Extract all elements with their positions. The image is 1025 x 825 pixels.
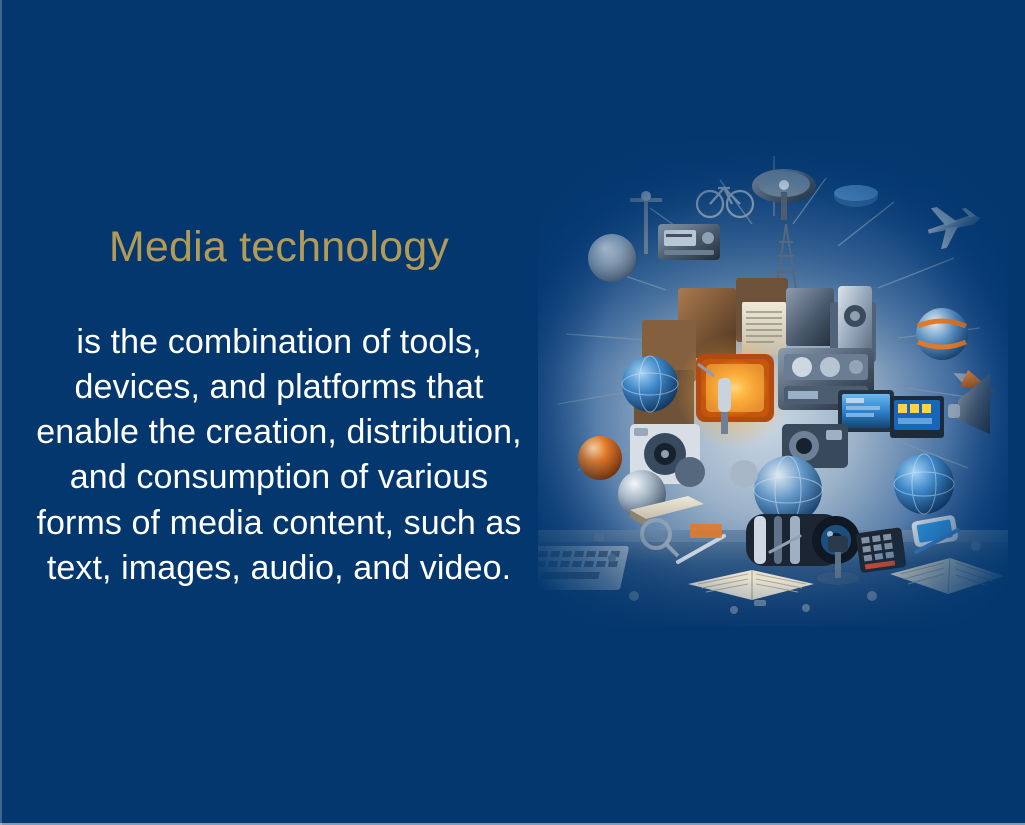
collage-illustration	[538, 138, 1008, 626]
media-technology-collage-image	[538, 138, 1008, 626]
slide-canvas: Media technology is the combination of t…	[0, 0, 1025, 825]
slide-left-edge	[0, 0, 2, 825]
collage-vignette	[538, 138, 1008, 626]
slide-body-text: is the combination of tools, devices, an…	[18, 320, 540, 591]
text-column: Media technology is the combination of t…	[18, 222, 540, 591]
slide-title: Media technology	[18, 222, 540, 273]
